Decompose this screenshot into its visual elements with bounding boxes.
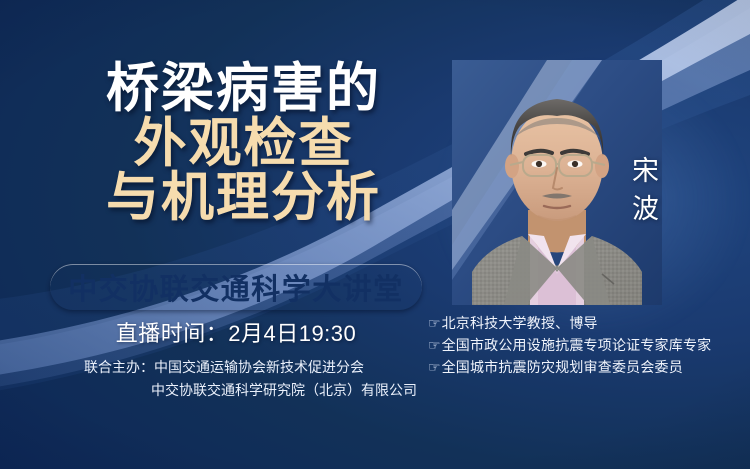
speaker-portrait-photo — [452, 60, 662, 305]
credential-row: ☞ 北京科技大学教授、博导 — [428, 313, 711, 335]
page-title: 桥梁病害的 外观检查 与机理分析 — [56, 62, 431, 226]
live-time: 直播时间：2月4日19:30 — [50, 316, 422, 348]
title-line-2: 外观检查 — [56, 117, 431, 172]
organizer-line-1: 联合主办：中国交通运输协会新技术促进分会 — [50, 356, 450, 379]
pointing-hand-icon: ☞ — [428, 357, 441, 379]
credential-row: ☞ 全国市政公用设施抗震专项论证专家库专家 — [428, 335, 711, 357]
pointing-hand-icon: ☞ — [428, 335, 441, 357]
speaker-name-char-2: 波 — [632, 190, 660, 228]
credential-text: 全国市政公用设施抗震专项论证专家库专家 — [442, 335, 712, 357]
speaker-credentials: ☞ 北京科技大学教授、博导 ☞ 全国市政公用设施抗震专项论证专家库专家 ☞ 全国… — [428, 313, 711, 378]
organizer-line-2: 中交协联交通科学研究院（北京）有限公司 — [50, 379, 450, 402]
credential-text: 北京科技大学教授、博导 — [442, 313, 598, 335]
speaker-name: 宋 波 — [632, 152, 660, 229]
webinar-poster: 桥梁病害的 外观检查 与机理分析 中交协联交通科学大讲堂 直播时间：2月4日19… — [0, 0, 750, 469]
organizers-block: 联合主办：中国交通运输协会新技术促进分会 中交协联交通科学研究院（北京）有限公司 — [50, 356, 450, 401]
credential-text: 全国城市抗震防灾规划审查委员会委员 — [442, 357, 683, 379]
speaker-name-char-1: 宋 — [632, 152, 660, 190]
credential-row: ☞ 全国城市抗震防灾规划审查委员会委员 — [428, 357, 711, 379]
series-banner: 中交协联交通科学大讲堂 — [50, 264, 422, 310]
pointing-hand-icon: ☞ — [428, 313, 441, 335]
title-line-3: 与机理分析 — [56, 171, 431, 226]
series-banner-label: 中交协联交通科学大讲堂 — [68, 266, 404, 308]
title-line-1: 桥梁病害的 — [56, 62, 431, 117]
